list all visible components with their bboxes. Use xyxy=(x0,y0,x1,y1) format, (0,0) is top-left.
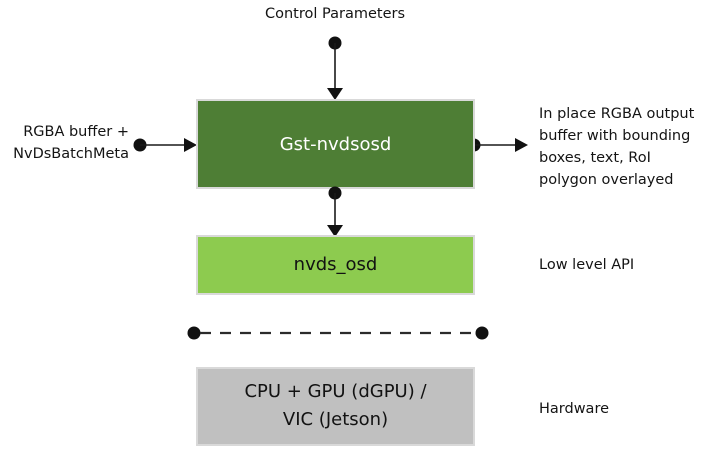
box-hardware-label-line1: CPU + GPU (dGPU) / xyxy=(244,381,427,402)
annotation-low-level-api: Low level API xyxy=(539,257,634,273)
annotation-rgba-output-line2: buffer with bounding xyxy=(539,128,690,144)
annotation-rgba-input-line1: RGBA buffer + xyxy=(23,124,129,140)
hardware-separator-right-dot xyxy=(476,327,489,340)
annotation-hardware: Hardware xyxy=(539,401,609,417)
box-hardware-label-line2: VIC (Jetson) xyxy=(283,409,388,430)
rgba-input-arrow-head xyxy=(184,138,197,152)
box-hardware[interactable]: CPU + GPU (dGPU) / VIC (Jetson) xyxy=(197,368,474,445)
annotation-rgba-input-line2: NvDsBatchMeta xyxy=(13,146,129,162)
annotation-rgba-output-line4: polygon overlayed xyxy=(539,172,674,188)
hardware-separator-left-dot xyxy=(188,327,201,340)
block-diagram-canvas: Gst-nvdsosd nvds_osd CPU + GPU (dGPU) / … xyxy=(0,0,720,455)
rgba-output-arrow-head xyxy=(515,138,528,152)
box-hardware-rect[interactable] xyxy=(197,368,474,445)
box-gst-nvdsosd-label: Gst-nvdsosd xyxy=(280,134,392,155)
gst-to-nvds-arrow xyxy=(327,187,343,238)
annotation-rgba-input: RGBA buffer + NvDsBatchMeta xyxy=(13,124,129,162)
annotation-rgba-output: In place RGBA output buffer with boundin… xyxy=(539,106,695,188)
annotation-rgba-output-line1: In place RGBA output xyxy=(539,106,695,122)
control-parameters-arrow xyxy=(327,37,343,101)
box-nvds-osd[interactable]: nvds_osd xyxy=(197,236,474,294)
rgba-output-arrow xyxy=(468,138,529,152)
rgba-input-arrow xyxy=(134,138,198,152)
annotation-rgba-output-line3: boxes, text, RoI xyxy=(539,150,651,166)
diagram-root: Gst-nvdsosd nvds_osd CPU + GPU (dGPU) / … xyxy=(0,0,720,455)
hardware-separator xyxy=(188,327,489,340)
box-gst-nvdsosd[interactable]: Gst-nvdsosd xyxy=(197,100,474,188)
annotation-control-parameters: Control Parameters xyxy=(265,6,405,22)
box-nvds-osd-label: nvds_osd xyxy=(294,254,378,275)
control-parameters-arrow-head xyxy=(327,88,343,100)
